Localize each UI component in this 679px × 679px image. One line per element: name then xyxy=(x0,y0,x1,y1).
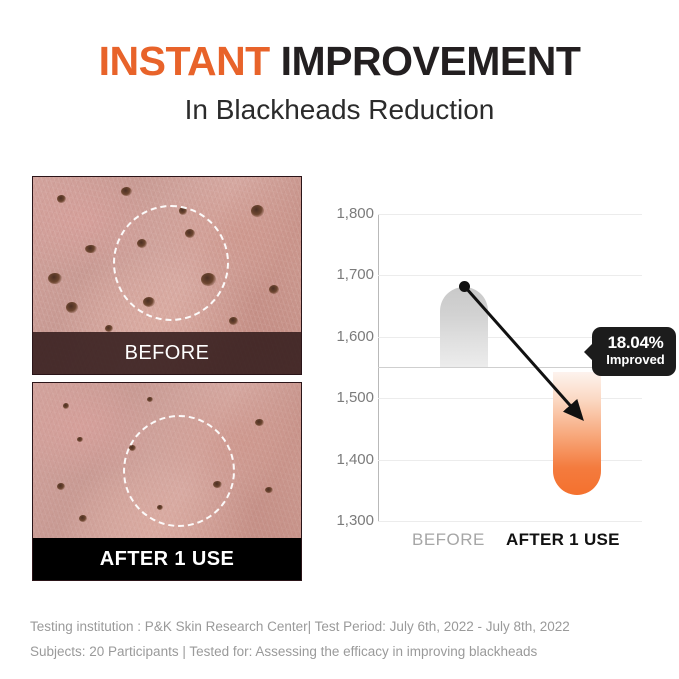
arrow-start-dot xyxy=(459,281,470,292)
badge-percent: 18.04% xyxy=(605,334,666,352)
x-label-before: BEFORE xyxy=(412,530,485,550)
improvement-badge: 18.04% Improved xyxy=(592,327,676,376)
blackhead-spot xyxy=(79,515,87,522)
title-highlight: INSTANT xyxy=(99,38,270,84)
x-label-after: AFTER 1 USE xyxy=(506,530,620,550)
blackhead-spot xyxy=(229,317,238,325)
photo-comparison-panel: BEFORE AFTER 1 USE xyxy=(32,176,302,581)
x-axis-labels: BEFORE AFTER 1 USE xyxy=(378,530,642,556)
y-tick-label: 1,500 xyxy=(328,389,374,406)
blackhead-spot xyxy=(48,273,62,284)
blackhead-spot xyxy=(85,245,97,253)
y-tick-label: 1,600 xyxy=(328,328,374,345)
blackhead-spot xyxy=(251,205,264,217)
title-rest: IMPROVEMENT xyxy=(270,38,581,84)
blackhead-spot xyxy=(63,403,69,409)
blackhead-spot xyxy=(265,487,273,493)
plot-area: 18.04% Improved xyxy=(378,214,642,521)
before-photo-label: BEFORE xyxy=(33,332,301,374)
y-tick-label: 1,300 xyxy=(328,512,374,529)
footer-disclaimer: Testing institution : P&K Skin Research … xyxy=(30,615,650,665)
blackhead-spot xyxy=(121,187,132,196)
y-tick-label: 1,400 xyxy=(328,451,374,468)
infographic-page: INSTANT IMPROVEMENT In Blackheads Reduct… xyxy=(0,0,679,679)
y-axis-ticks: 1,800 1,700 1,600 1,500 1,400 1,300 xyxy=(328,214,374,521)
blackhead-spot xyxy=(77,437,83,442)
blackhead-spot xyxy=(269,285,279,294)
region-of-interest-circle xyxy=(113,205,229,321)
before-photo: BEFORE xyxy=(32,176,302,375)
region-of-interest-circle xyxy=(123,415,235,527)
blackhead-spot xyxy=(57,195,66,203)
y-tick-label: 1,800 xyxy=(328,205,374,222)
blackhead-spot xyxy=(57,483,65,490)
after-photo-label: AFTER 1 USE xyxy=(33,538,301,580)
page-title: INSTANT IMPROVEMENT xyxy=(0,40,679,83)
page-subtitle: In Blackheads Reduction xyxy=(0,94,679,126)
header: INSTANT IMPROVEMENT In Blackheads Reduct… xyxy=(0,40,679,126)
badge-label: Improved xyxy=(605,352,666,368)
blackhead-spot xyxy=(105,325,113,332)
blackhead-spot xyxy=(66,302,78,313)
blackhead-spot xyxy=(147,397,153,402)
blackhead-spot xyxy=(255,419,264,426)
gridline xyxy=(378,521,642,522)
footer-line-1: Testing institution : P&K Skin Research … xyxy=(30,615,650,640)
after-photo: AFTER 1 USE xyxy=(32,382,302,581)
footer-line-2: Subjects: 20 Participants | Tested for: … xyxy=(30,640,650,665)
bar-chart: 1,800 1,700 1,600 1,500 1,400 1,300 xyxy=(328,200,650,560)
y-tick-label: 1,700 xyxy=(328,266,374,283)
